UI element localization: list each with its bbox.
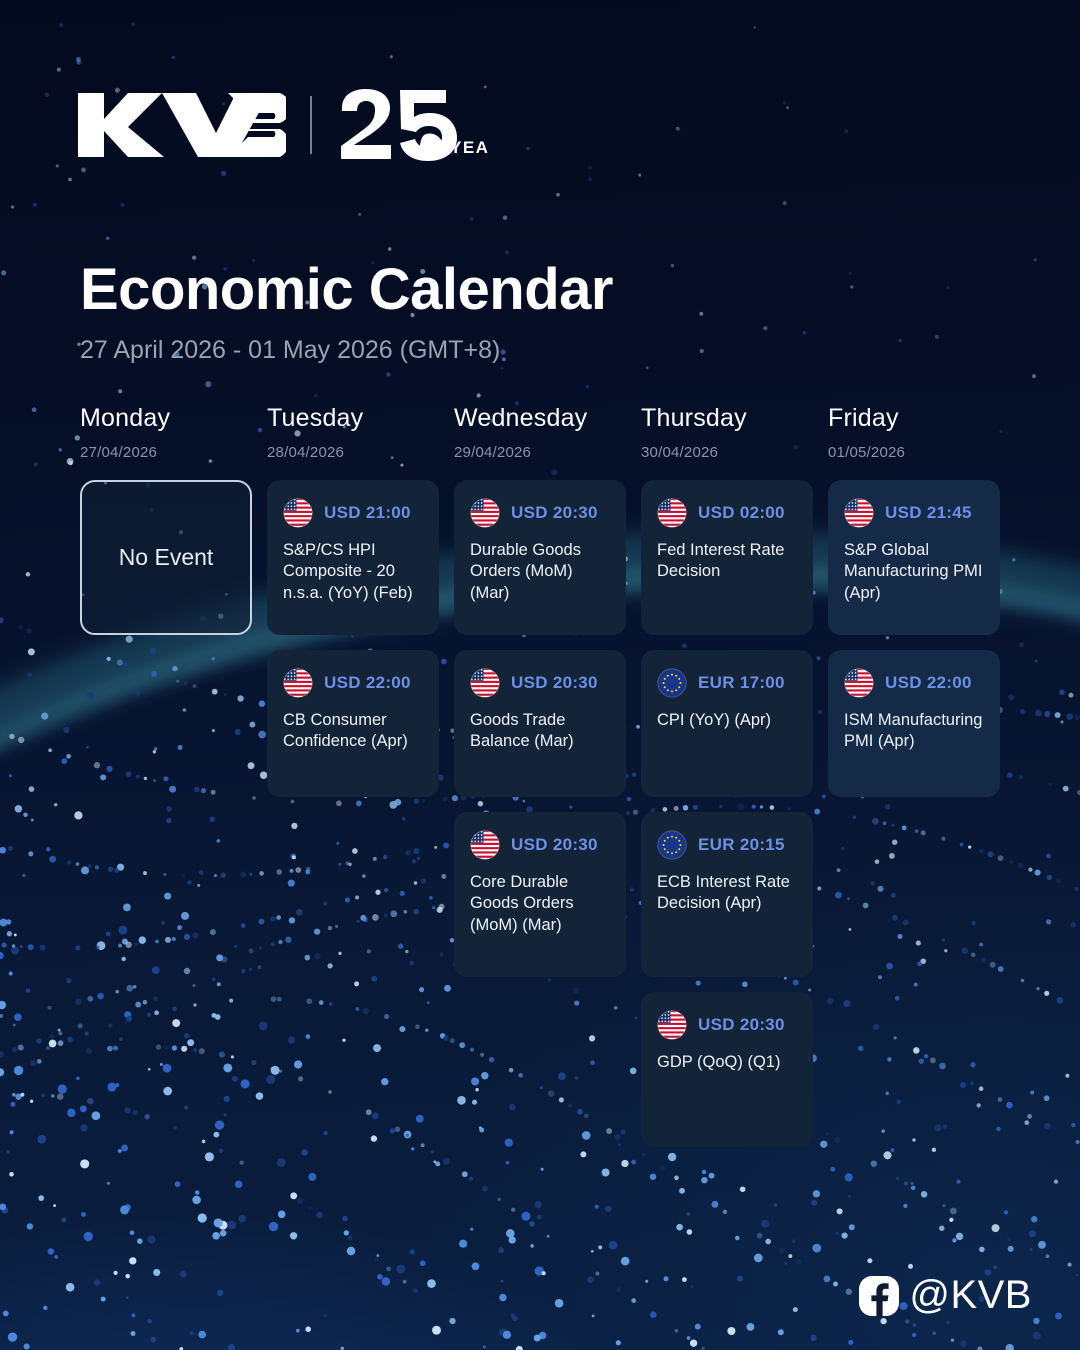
eu-flag-icon xyxy=(657,830,687,860)
social-handle: @KVB xyxy=(909,1273,1032,1318)
logo-divider xyxy=(310,96,312,154)
poster-canvas: YEARS Economic Calendar 27 April 2026 - … xyxy=(0,0,1080,1350)
event-title: Goods Trade Balance (Mar) xyxy=(470,710,610,754)
us-flag-icon xyxy=(657,1010,687,1040)
event-card[interactable]: EUR 17:00CPI (YoY) (Apr) xyxy=(641,650,813,797)
event-title: S&P Global Manufacturing PMI (Apr) xyxy=(844,540,984,606)
us-flag-icon xyxy=(470,830,500,860)
us-flag-icon xyxy=(657,498,687,528)
day-card-list: USD 20:30Durable Goods Orders (MoM) (Mar… xyxy=(454,480,626,977)
brand-logo: YEARS xyxy=(78,88,488,162)
us-flag-icon xyxy=(657,1010,687,1040)
us-flag-icon xyxy=(470,668,500,698)
eu-flag-icon xyxy=(657,668,687,698)
eu-flag-icon xyxy=(657,830,687,860)
currency-time-label: USD 21:00 xyxy=(324,503,411,523)
us-flag-icon xyxy=(844,668,874,698)
event-title: S&P/CS HPI Composite - 20 n.s.a. (YoY) (… xyxy=(283,540,423,606)
currency-time-label: USD 20:30 xyxy=(511,835,598,855)
date-range-subtitle: 27 April 2026 - 01 May 2026 (GMT+8) xyxy=(80,336,500,365)
day-date: 01/05/2026 xyxy=(828,444,1000,461)
currency-time-label: USD 22:00 xyxy=(324,673,411,693)
currency-time-label: USD 22:00 xyxy=(885,673,972,693)
event-card-header: USD 20:30 xyxy=(470,668,610,698)
event-card[interactable]: USD 22:00ISM Manufacturing PMI (Apr) xyxy=(828,650,1000,797)
day-column-wednesday: Wednesday29/04/2026USD 20:30Durable Good… xyxy=(454,405,626,1147)
currency-time-label: USD 02:00 xyxy=(698,503,785,523)
event-card[interactable]: USD 20:30Durable Goods Orders (MoM) (Mar… xyxy=(454,480,626,635)
us-flag-icon xyxy=(470,498,500,528)
day-date: 30/04/2026 xyxy=(641,444,813,461)
event-title: CPI (YoY) (Apr) xyxy=(657,710,797,732)
event-card[interactable]: USD 21:45S&P Global Manufacturing PMI (A… xyxy=(828,480,1000,635)
event-card-header: USD 20:30 xyxy=(470,830,610,860)
day-card-list: USD 21:00S&P/CS HPI Composite - 20 n.s.a… xyxy=(267,480,439,797)
us-flag-icon xyxy=(844,498,874,528)
currency-time-label: USD 21:45 xyxy=(885,503,972,523)
event-card-header: USD 21:00 xyxy=(283,498,423,528)
event-card[interactable]: USD 22:00CB Consumer Confidence (Apr) xyxy=(267,650,439,797)
kvb-logo-icon xyxy=(78,89,286,161)
us-flag-icon xyxy=(657,498,687,528)
event-title: ECB Interest Rate Decision (Apr) xyxy=(657,872,797,916)
day-card-list: No Event xyxy=(80,480,252,635)
event-card-header: USD 20:30 xyxy=(657,1010,797,1040)
event-card-header: USD 22:00 xyxy=(844,668,984,698)
event-card-header: USD 02:00 xyxy=(657,498,797,528)
day-date: 28/04/2026 xyxy=(267,444,439,461)
event-card[interactable]: USD 21:00S&P/CS HPI Composite - 20 n.s.a… xyxy=(267,480,439,635)
social-footer[interactable]: @KVB xyxy=(858,1273,1032,1318)
day-name: Thursday xyxy=(641,405,813,433)
day-column-friday: Friday01/05/2026USD 21:45S&P Global Manu… xyxy=(828,405,1000,1147)
currency-time-label: USD 20:30 xyxy=(698,1015,785,1035)
page-title: Economic Calendar xyxy=(80,260,613,321)
day-column-tuesday: Tuesday28/04/2026USD 21:00S&P/CS HPI Com… xyxy=(267,405,439,1147)
svg-text:YEARS: YEARS xyxy=(450,138,488,157)
day-column-monday: Monday27/04/2026No Event xyxy=(80,405,252,1147)
us-flag-icon xyxy=(283,668,313,698)
event-card[interactable]: USD 02:00Fed Interest Rate Decision xyxy=(641,480,813,635)
event-card-header: EUR 17:00 xyxy=(657,668,797,698)
us-flag-icon xyxy=(283,498,313,528)
event-card[interactable]: USD 20:30GDP (QoQ) (Q1) xyxy=(641,992,813,1147)
event-card[interactable]: USD 20:30Goods Trade Balance (Mar) xyxy=(454,650,626,797)
day-column-thursday: Thursday30/04/2026USD 02:00Fed Interest … xyxy=(641,405,813,1147)
anniversary-25-years-icon: YEARS xyxy=(338,88,488,162)
event-card-header: USD 20:30 xyxy=(470,498,610,528)
facebook-icon[interactable] xyxy=(858,1275,900,1317)
day-date: 29/04/2026 xyxy=(454,444,626,461)
day-name: Friday xyxy=(828,405,1000,433)
currency-time-label: USD 20:30 xyxy=(511,673,598,693)
event-title: CB Consumer Confidence (Apr) xyxy=(283,710,423,754)
currency-time-label: EUR 20:15 xyxy=(698,835,785,855)
us-flag-icon xyxy=(283,668,313,698)
currency-time-label: USD 20:30 xyxy=(511,503,598,523)
event-title: Fed Interest Rate Decision xyxy=(657,540,797,584)
event-card[interactable]: EUR 20:15ECB Interest Rate Decision (Apr… xyxy=(641,812,813,977)
event-card-header: EUR 20:15 xyxy=(657,830,797,860)
event-title: Core Durable Goods Orders (MoM) (Mar) xyxy=(470,872,610,938)
event-card-header: USD 22:00 xyxy=(283,668,423,698)
day-card-list: USD 02:00Fed Interest Rate DecisionEUR 1… xyxy=(641,480,813,1147)
event-title: Durable Goods Orders (MoM) (Mar) xyxy=(470,540,610,606)
day-date: 27/04/2026 xyxy=(80,444,252,461)
no-event-card: No Event xyxy=(80,480,252,635)
us-flag-icon xyxy=(283,498,313,528)
day-name: Tuesday xyxy=(267,405,439,433)
us-flag-icon xyxy=(470,668,500,698)
event-card[interactable]: USD 20:30Core Durable Goods Orders (MoM)… xyxy=(454,812,626,977)
us-flag-icon xyxy=(470,830,500,860)
currency-time-label: EUR 17:00 xyxy=(698,673,785,693)
day-name: Monday xyxy=(80,405,252,433)
eu-flag-icon xyxy=(657,668,687,698)
event-title: ISM Manufacturing PMI (Apr) xyxy=(844,710,984,754)
event-title: GDP (QoQ) (Q1) xyxy=(657,1052,797,1074)
us-flag-icon xyxy=(844,498,874,528)
day-card-list: USD 21:45S&P Global Manufacturing PMI (A… xyxy=(828,480,1000,797)
us-flag-icon xyxy=(844,668,874,698)
event-card-header: USD 21:45 xyxy=(844,498,984,528)
day-name: Wednesday xyxy=(454,405,626,433)
us-flag-icon xyxy=(470,498,500,528)
calendar-grid: Monday27/04/2026No EventTuesday28/04/202… xyxy=(80,405,1014,1147)
